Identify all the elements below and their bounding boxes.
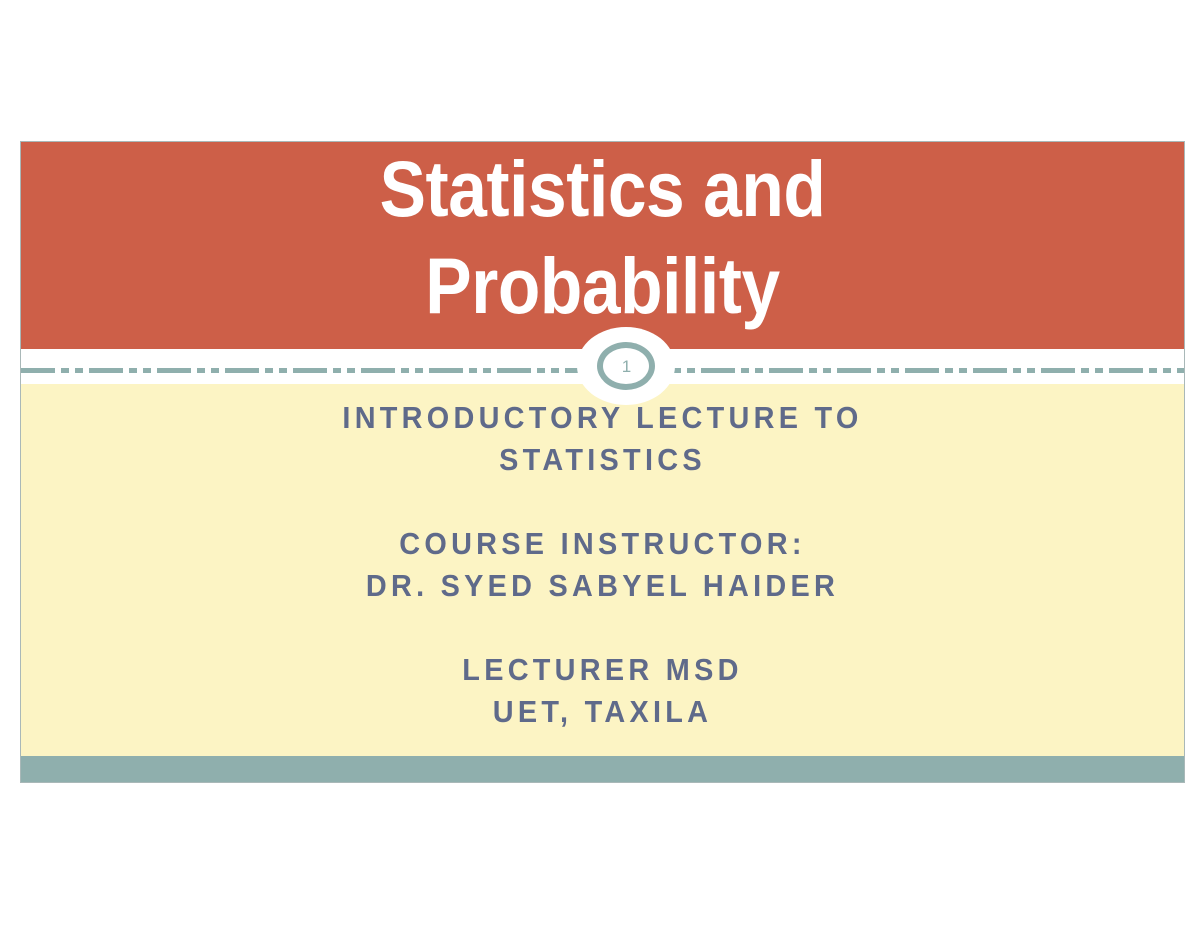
title-band: Statistics and Probability bbox=[21, 142, 1184, 349]
subtitle-spacer-1 bbox=[62, 481, 1144, 523]
subtitle-block: INTRODUCTORY LECTURE TO STATISTICS COURS… bbox=[62, 397, 1144, 733]
affiliation-line-1: LECTURER MSD bbox=[62, 649, 1144, 691]
presentation-slide: Statistics and Probability 1 INTRODUCTOR… bbox=[20, 141, 1185, 783]
instructor-name: DR. SYED SABYEL HAIDER bbox=[62, 565, 1144, 607]
instructor-label: COURSE INSTRUCTOR: bbox=[62, 523, 1144, 565]
subtitle-heading-line-2: STATISTICS bbox=[62, 439, 1144, 481]
body-band: INTRODUCTORY LECTURE TO STATISTICS COURS… bbox=[21, 384, 1184, 756]
slide-canvas: Statistics and Probability 1 INTRODUCTOR… bbox=[0, 0, 1200, 927]
slide-number-text: 1 bbox=[577, 327, 675, 405]
affiliation-line-2: UET, TAXILA bbox=[62, 691, 1144, 733]
footer-band bbox=[21, 756, 1184, 782]
subtitle-spacer-2 bbox=[62, 607, 1144, 649]
slide-number-badge: 1 bbox=[577, 327, 675, 405]
slide-title: Statistics and Probability bbox=[91, 141, 1114, 334]
